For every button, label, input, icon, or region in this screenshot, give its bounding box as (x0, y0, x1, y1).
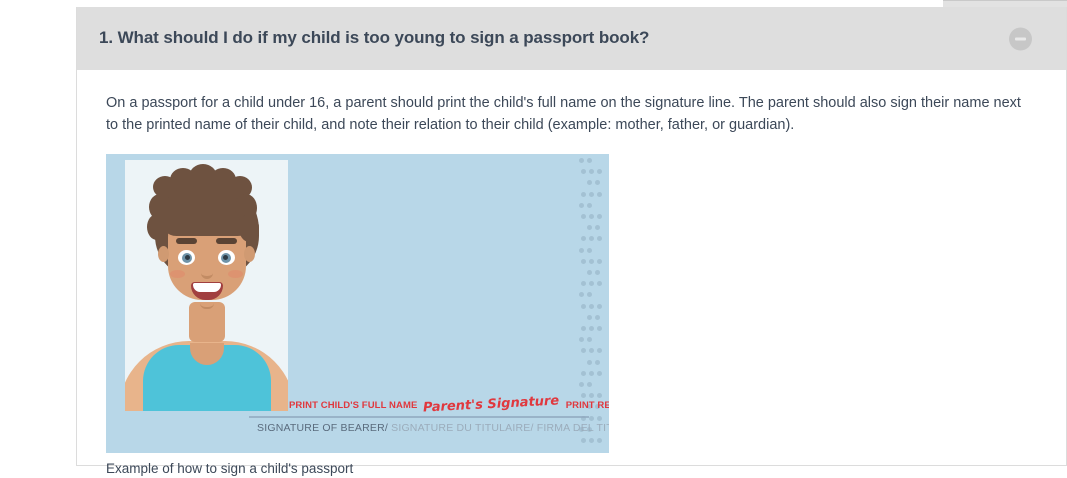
avatar-teeth (193, 283, 221, 292)
avatar-blush-right (228, 270, 243, 278)
perforation-dot (581, 259, 586, 264)
signature-label-spanish: FIRMA DEL TITULAR (534, 422, 609, 434)
perforation-dot (589, 348, 594, 353)
minus-circle-icon[interactable] (1009, 27, 1032, 50)
perforation-dot (587, 337, 592, 342)
perforation-dot (587, 248, 592, 253)
perforation-dot (579, 382, 584, 387)
perforation-dot (581, 214, 586, 219)
perforation-dot (579, 248, 584, 253)
perforation-dot (587, 225, 592, 230)
perforation-dot (589, 192, 594, 197)
perforation-dot (597, 371, 602, 376)
passport-photo-frame (125, 160, 288, 411)
perforation-dot (581, 438, 586, 443)
perforation-dot (589, 371, 594, 376)
perforation-dot (597, 192, 602, 197)
perforation-dot (597, 214, 602, 219)
perforation-dot (589, 438, 594, 443)
accordion-question-title: 1. What should I do if my child is too y… (99, 28, 649, 48)
perforation-dot (597, 438, 602, 443)
perforation-dot (589, 416, 594, 421)
perforation-dot (581, 348, 586, 353)
signature-label-english: SIGNATURE OF BEARER/ (257, 422, 388, 434)
avatar-pupil-left (185, 255, 190, 260)
avatar-blush-left (170, 270, 185, 278)
perforation-dot (597, 326, 602, 331)
perforation-dot (595, 270, 600, 275)
avatar-hair-curl (147, 214, 167, 240)
avatar-hair-curl (169, 208, 189, 224)
perforation-dot (587, 292, 592, 297)
perforation-dot (587, 360, 592, 365)
avatar-ear-left (158, 246, 169, 262)
perforation-dot (581, 169, 586, 174)
perforation-dot (597, 281, 602, 286)
avatar-hair-curl (239, 214, 259, 242)
perforation-dot (581, 326, 586, 331)
perforation-dot (595, 315, 600, 320)
perforation-dot (589, 326, 594, 331)
signature-label-french: SIGNATURE DU TITULAIRE/ (388, 422, 534, 434)
perforation-dot (581, 192, 586, 197)
perforation-dot (581, 371, 586, 376)
avatar-hair-curl (209, 208, 229, 224)
passport-signature-line (249, 416, 589, 418)
signature-of-bearer-label: SIGNATURE OF BEARER/ SIGNATURE DU TITULA… (257, 422, 609, 434)
perforation-dot (597, 259, 602, 264)
perforation-dot (589, 281, 594, 286)
avatar-eyebrow-right (216, 238, 237, 244)
faq-accordion-item: 1. What should I do if my child is too y… (76, 7, 1067, 466)
perforation-dot (587, 382, 592, 387)
accordion-header-toggle[interactable]: 1. What should I do if my child is too y… (77, 7, 1066, 70)
perforation-dot (579, 158, 584, 163)
perforation-dot (589, 259, 594, 264)
perforation-dot (589, 214, 594, 219)
perforation-dot (581, 236, 586, 241)
avatar-shirt (143, 345, 271, 411)
perforation-dot (589, 304, 594, 309)
perforation-dot (597, 236, 602, 241)
perforation-dot (595, 225, 600, 230)
perforation-dot (579, 337, 584, 342)
annotation-print-relation: PRINT RELATION TO CHILD (566, 400, 609, 411)
perforation-dot (589, 236, 594, 241)
passport-page-illustration: PRINT CHILD'S FULL NAME Parent's Signatu… (106, 154, 609, 453)
perforation-dot (587, 180, 592, 185)
figure-passport-example: PRINT CHILD'S FULL NAME Parent's Signatu… (106, 154, 1040, 478)
figure-caption: Example of how to sign a child's passpor… (106, 460, 1040, 478)
perforation-dot (587, 270, 592, 275)
signature-annotations: PRINT CHILD'S FULL NAME Parent's Signatu… (289, 397, 601, 412)
perforation-dot (595, 180, 600, 185)
avatar-ear-right (244, 246, 255, 262)
perforation-dot (579, 203, 584, 208)
perforation-dot (597, 416, 602, 421)
perforation-dot (597, 304, 602, 309)
perforation-dot (589, 169, 594, 174)
annotation-parents-signature: Parent's Signature (423, 393, 560, 415)
avatar-eyebrow-left (176, 238, 197, 244)
perforation-dot (587, 158, 592, 163)
perforation-dot (597, 348, 602, 353)
perforation-dot (597, 169, 602, 174)
avatar-hair-curl (189, 206, 209, 222)
perforation-dot (581, 281, 586, 286)
perforation-dot (581, 304, 586, 309)
annotation-print-child-name: PRINT CHILD'S FULL NAME (289, 400, 417, 411)
perforation-dot (587, 315, 592, 320)
minus-glyph (1015, 37, 1026, 40)
accordion-panel-content: On a passport for a child under 16, a pa… (77, 70, 1066, 478)
avatar-pupil-right (223, 255, 228, 260)
perforation-dot (579, 292, 584, 297)
perforation-dot (587, 203, 592, 208)
answer-paragraph: On a passport for a child under 16, a pa… (106, 92, 1031, 136)
perforation-dot (595, 360, 600, 365)
